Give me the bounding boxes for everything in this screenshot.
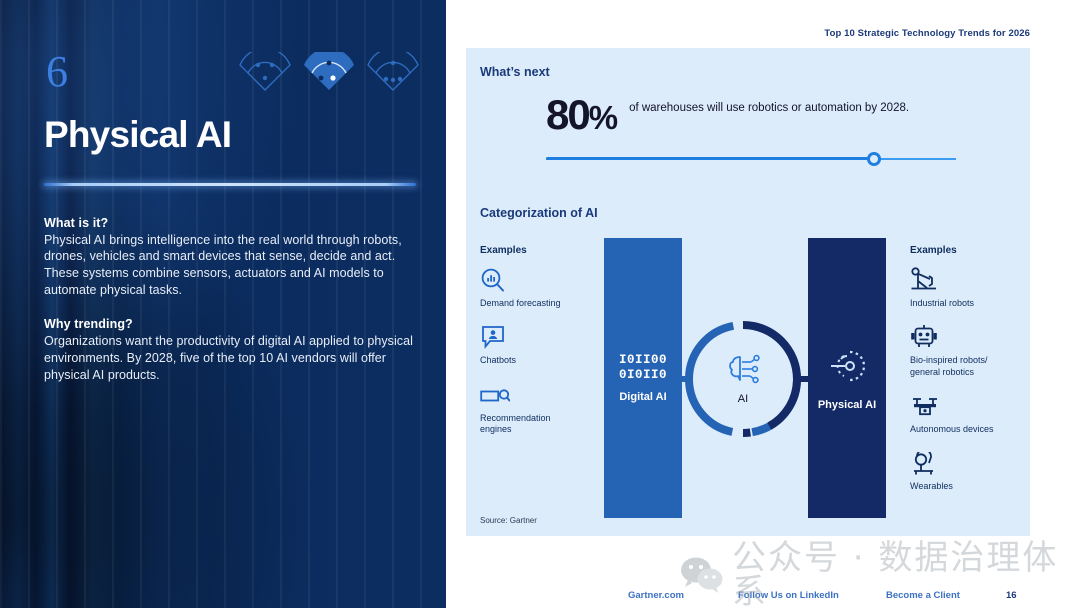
hub-label: AI <box>738 393 748 405</box>
example-label: Recommendation engines <box>480 413 578 436</box>
stat-description: of warehouses will use robotics or autom… <box>629 101 909 116</box>
stat-number: 80 <box>546 91 589 138</box>
slider-knob[interactable] <box>867 152 881 166</box>
example-industrial-robots: Industrial robots <box>910 267 1008 309</box>
physical-ai-bar: Physical AI <box>808 238 886 518</box>
physical-examples-column: Examples Industrial robots <box>910 245 1008 507</box>
example-label: Demand forecasting <box>480 298 578 309</box>
wearable-headset-icon <box>910 450 1008 476</box>
example-autonomous-devices: Autonomous devices <box>910 393 1008 435</box>
example-label: Industrial robots <box>910 298 1008 309</box>
footer-link-become-client[interactable]: Become a Client <box>886 590 960 601</box>
content-panel: What’s next 80% of warehouses will use r… <box>466 48 1030 536</box>
categorization-diagram: Examples Demand forecasting <box>466 238 1030 518</box>
ai-hub: AI <box>680 316 806 442</box>
page-title: Physical AI <box>44 116 416 155</box>
sensor-fan-icon-1 <box>238 52 292 97</box>
sensor-fan-icon-3 <box>366 52 420 97</box>
slider-fill <box>546 157 874 161</box>
trend-number: 6 <box>46 50 67 94</box>
sensor-icon-group <box>238 52 420 97</box>
slide-right-area: Top 10 Strategic Technology Trends for 2… <box>446 0 1080 608</box>
hub-core: AI <box>698 334 788 424</box>
list-magnifier-icon <box>480 382 578 408</box>
what-is-it-body: Physical AI brings intelligence into the… <box>44 232 416 299</box>
why-trending-heading: Why trending? <box>44 317 416 331</box>
stat-callout: 80% of warehouses will use robotics or a… <box>546 95 909 138</box>
example-wearables: Wearables <box>910 450 1008 492</box>
humanoid-robot-icon <box>910 324 1008 350</box>
why-trending-block: Why trending? Organizations want the pro… <box>44 317 416 383</box>
digital-ai-label: Digital AI <box>619 391 666 403</box>
example-label: Chatbots <box>480 355 578 366</box>
stat-value: 80% <box>546 95 617 138</box>
source-note: Source: Gartner <box>480 516 537 525</box>
drone-icon <box>910 393 1008 419</box>
example-bio-inspired-robots: Bio-inspired robots/ general robotics <box>910 324 1008 378</box>
binary-glyph: I0II000I0II0 <box>619 353 667 383</box>
whats-next-title: What’s next <box>480 65 550 79</box>
why-trending-body: Organizations want the productivity of d… <box>44 333 416 383</box>
sensor-fan-icon-2-filled <box>302 52 356 97</box>
stat-progress-slider[interactable] <box>546 152 956 166</box>
example-label: Wearables <box>910 481 1008 492</box>
title-divider <box>44 183 416 186</box>
slide-left-panel: 6 <box>0 0 446 608</box>
robot-arm-icon <box>910 267 1008 293</box>
stat-percent-sign: % <box>589 99 617 136</box>
chat-person-icon <box>480 324 578 350</box>
document-header: Top 10 Strategic Technology Trends for 2… <box>824 28 1030 39</box>
footer-link-linkedin[interactable]: Follow Us on LinkedIn <box>738 590 839 601</box>
digital-examples-heading: Examples <box>480 245 578 256</box>
what-is-it-heading: What is it? <box>44 216 416 230</box>
chart-magnifier-icon <box>480 267 578 293</box>
what-is-it-block: What is it? Physical AI brings intellige… <box>44 216 416 299</box>
physical-examples-heading: Examples <box>910 245 1008 256</box>
digital-ai-bar: I0II000I0II0 Digital AI <box>604 238 682 518</box>
example-recommendation-engines: Recommendation engines <box>480 382 578 436</box>
page-number: 16 <box>1006 590 1017 601</box>
slide-number-row: 6 <box>44 46 416 112</box>
digital-examples-column: Examples Demand forecasting <box>480 245 578 450</box>
categorization-title: Categorization of AI <box>480 206 598 220</box>
footer-link-gartner[interactable]: Gartner.com <box>628 590 684 601</box>
physical-ai-label: Physical AI <box>818 399 876 411</box>
example-demand-forecasting: Demand forecasting <box>480 267 578 309</box>
example-chatbots: Chatbots <box>480 324 578 366</box>
example-label: Autonomous devices <box>910 424 1008 435</box>
radar-dots-icon <box>827 346 867 391</box>
example-label: Bio-inspired robots/ general robotics <box>910 355 1008 378</box>
brain-circuit-icon <box>723 353 763 390</box>
